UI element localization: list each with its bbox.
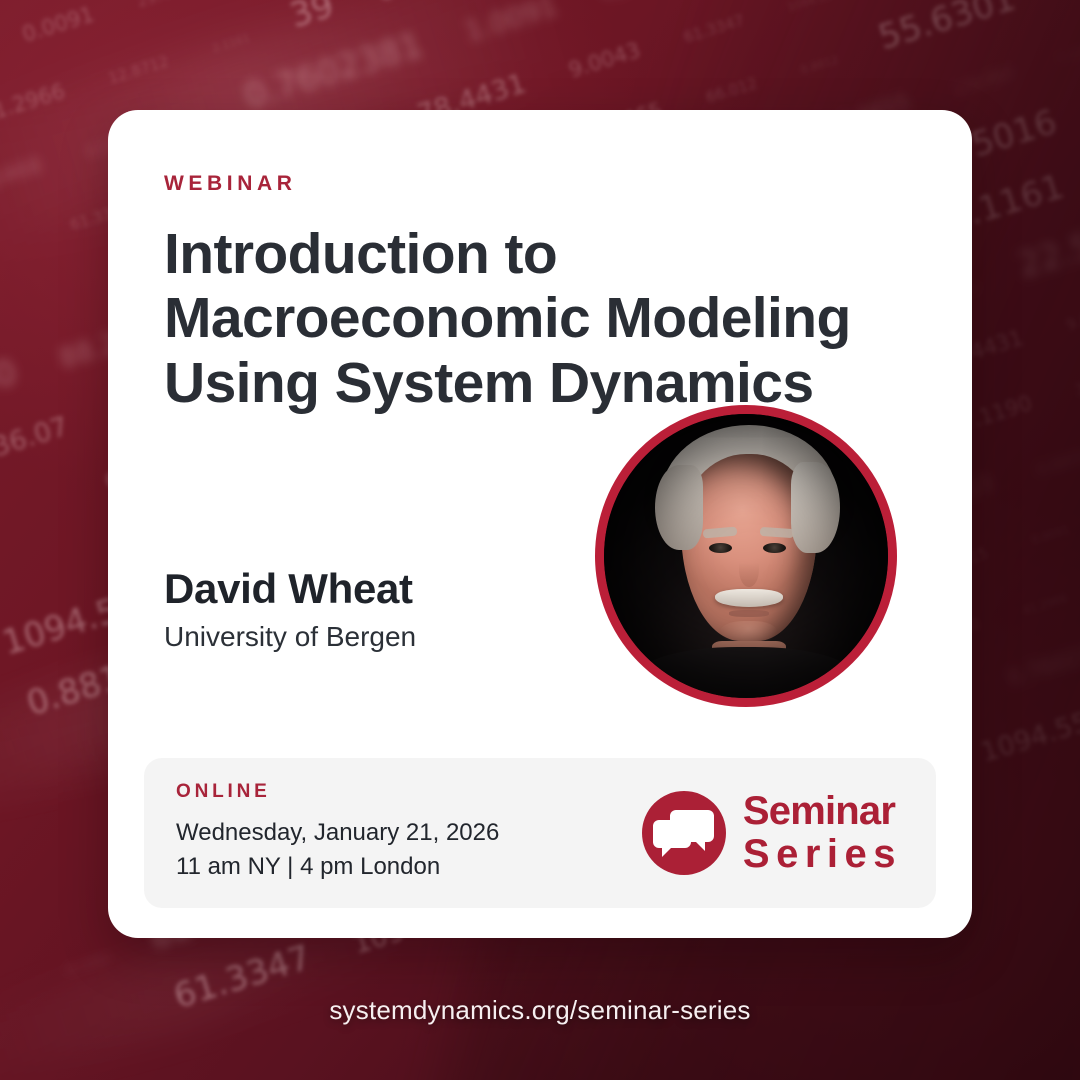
logo-word-series: Series	[743, 835, 902, 874]
eyebrow-label: WEBINAR	[164, 172, 916, 196]
logo-word-seminar: Seminar	[743, 792, 902, 831]
event-details-panel: ONLINE Wednesday, January 21, 2026 11 am…	[144, 758, 936, 908]
speech-bubble-front-icon	[653, 820, 691, 848]
speaker-affiliation: University of Bergen	[164, 621, 584, 653]
speaker-name: David Wheat	[164, 565, 584, 613]
background-number: 36.07	[0, 401, 75, 473]
seminar-series-wordmark: Seminar Series	[743, 792, 902, 873]
seminar-series-logo: Seminar Series	[642, 791, 902, 875]
speaker-photo	[604, 414, 888, 698]
event-mode-label: ONLINE	[176, 782, 499, 801]
event-date: Wednesday, January 21, 2026	[176, 816, 499, 850]
footer-url[interactable]: systemdynamics.org/seminar-series	[0, 995, 1080, 1026]
event-time: 11 am NY | 4 pm London	[176, 850, 499, 884]
poster-canvas: 36.0773.10150.009129.4666501636.0773.101…	[0, 0, 1080, 1080]
speaker-block: David Wheat University of Bergen	[164, 565, 584, 653]
webinar-card: WEBINAR Introduction to Macroeconomic Mo…	[108, 110, 972, 938]
event-details-text: ONLINE Wednesday, January 21, 2026 11 am…	[176, 782, 499, 884]
photo-vignette	[604, 414, 888, 698]
speech-bubbles-icon	[642, 791, 726, 875]
speaker-avatar	[595, 405, 897, 707]
page-title: Introduction to Macroeconomic Modeling U…	[164, 222, 916, 415]
